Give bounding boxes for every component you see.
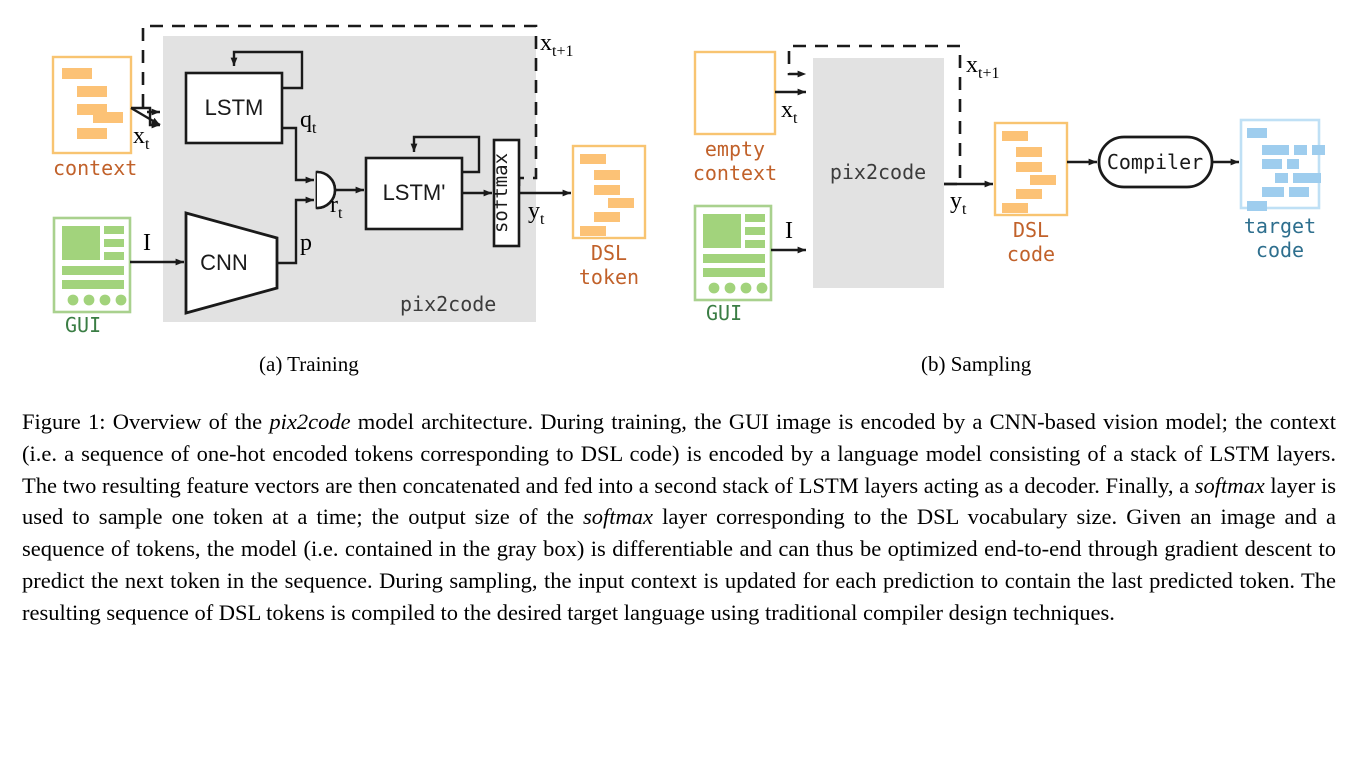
signal-xt1-a: xt+1: [540, 30, 573, 60]
gui-icon-a: [54, 218, 130, 312]
lstm-block-label: LSTM: [205, 95, 264, 120]
subcaption-sampling: (b) Sampling: [921, 352, 1031, 377]
signal-xt1-b: xt+1: [966, 52, 999, 82]
dsl-token-icon: [573, 146, 645, 238]
gui-icon-b: [695, 206, 771, 300]
caption-body: Overview of the pix2code model architect…: [22, 409, 1336, 625]
figure-image: context xt LSTM qt: [0, 0, 1357, 395]
dsl-code-label-line2: code: [1007, 242, 1055, 266]
signal-I-a: I: [143, 230, 151, 256]
caption-label: Figure 1:: [22, 409, 105, 434]
gui-label-b: GUI: [706, 301, 742, 325]
gui-label-a: GUI: [65, 313, 101, 337]
context-label-a: context: [53, 156, 137, 180]
subcaption-training: (a) Training: [259, 352, 359, 377]
target-code-label-line2: code: [1256, 238, 1304, 262]
softmax-block-label: softmax: [490, 153, 512, 233]
dsl-code-label-line1: DSL: [1013, 218, 1049, 242]
empty-context-label-line2: context: [693, 161, 777, 185]
target-code-icon: [1241, 120, 1325, 211]
signal-I-b: I: [785, 218, 793, 244]
compiler-label: Compiler: [1107, 150, 1203, 174]
signal-yt-b: yt: [950, 188, 967, 218]
signal-p: p: [300, 230, 312, 256]
figure-caption: Figure 1: Overview of the pix2code model…: [22, 406, 1336, 629]
pix2code-label-a: pix2code: [400, 292, 496, 316]
context-icon-a: [53, 57, 131, 153]
empty-context-label-line1: empty: [705, 137, 765, 161]
cnn-block-label: CNN: [200, 250, 248, 275]
pix2code-architecture-diagram: context xt LSTM qt: [0, 0, 1357, 395]
dsl-token-label-line1: DSL: [591, 241, 627, 265]
dsl-token-label-line2: token: [579, 265, 639, 289]
signal-xt-a: xt: [133, 123, 150, 153]
pix2code-label-b: pix2code: [830, 160, 926, 184]
empty-context-icon: [695, 52, 775, 134]
signal-xt-b: xt: [781, 97, 798, 127]
figure-page: context xt LSTM qt: [0, 0, 1357, 768]
lstm-prime-block-label: LSTM': [383, 180, 446, 205]
signal-yt-a: yt: [528, 198, 545, 228]
target-code-label-line1: target: [1244, 214, 1316, 238]
dsl-code-icon: [995, 123, 1067, 215]
